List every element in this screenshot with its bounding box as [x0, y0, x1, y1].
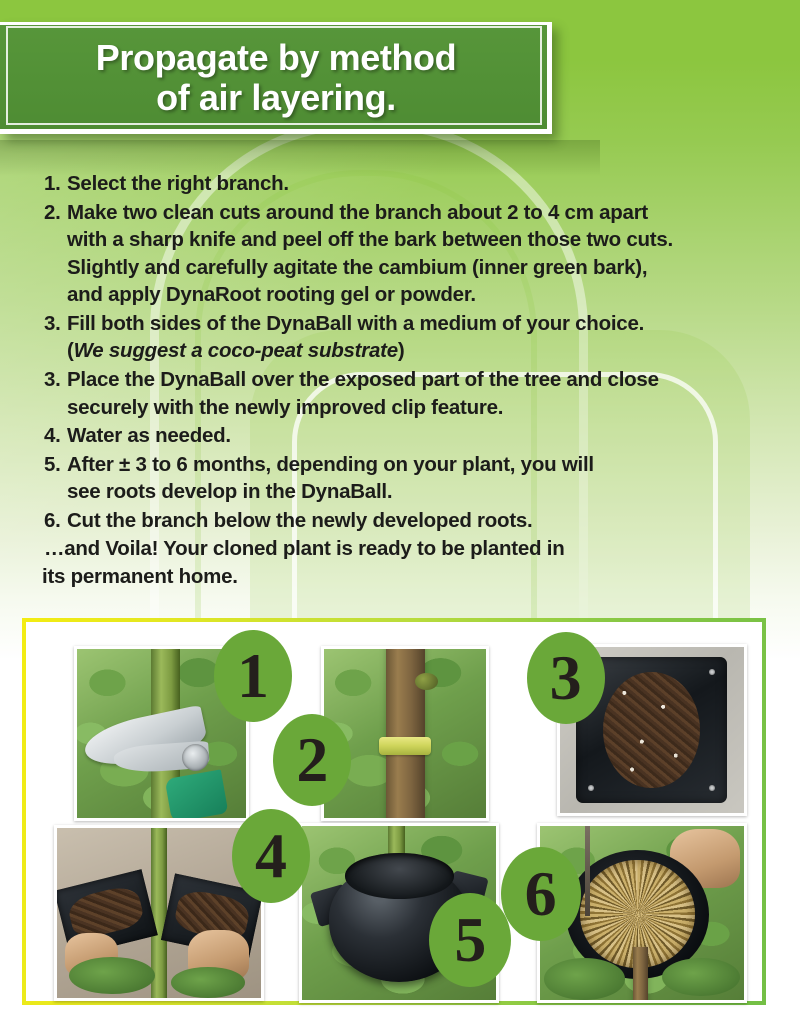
note-close-paren: ) — [398, 339, 405, 362]
step-line: Water as needed. — [67, 424, 231, 447]
step-badge-4: 4 — [232, 809, 310, 903]
step-text: Make two clean cuts around the branch ab… — [67, 199, 774, 309]
step-badge-3: 3 — [527, 632, 605, 724]
step-badge-2: 2 — [273, 714, 351, 806]
list-item: 3. Fill both sides of the DynaBall with … — [44, 310, 774, 365]
branch-nub — [415, 673, 438, 690]
shell-screw — [709, 785, 715, 791]
branch — [633, 947, 647, 1002]
step-line: Select the right branch. — [67, 172, 289, 195]
closing-line-2: its permanent home. — [42, 563, 774, 591]
photo-gallery-panel: 1 2 — [22, 618, 766, 1005]
step-line: Make two clean cuts around the branch ab… — [67, 199, 774, 227]
photo-cell-3: 3 — [521, 636, 746, 809]
shear-handle-icon — [165, 769, 229, 821]
header-banner: Propagate by method of air layering. — [0, 22, 552, 134]
page-title-line-1: Propagate by method — [96, 38, 456, 78]
step-text: Place the DynaBall over the exposed part… — [67, 366, 774, 421]
dynaball-collar — [345, 853, 454, 898]
photo-branch-with-peeled-bark-ring — [321, 646, 489, 821]
photo-scene — [324, 649, 486, 818]
medium-fill — [66, 883, 146, 941]
page-title-line-2: of air layering. — [156, 78, 396, 118]
page-title: Propagate by method of air layering. — [0, 22, 552, 134]
photo-cell-2: 2 — [281, 636, 506, 809]
shell-screw — [588, 785, 594, 791]
photo-cell-6: 6 — [521, 817, 746, 990]
step-number: 3. — [44, 366, 67, 394]
photo-scene — [57, 828, 261, 998]
step-line: Fill both sides of the DynaBall with a m… — [67, 310, 774, 338]
step-badge-1: 1 — [214, 630, 292, 722]
step-number: 4. — [44, 422, 67, 450]
step-line: with a sharp knife and peel off the bark… — [67, 226, 774, 254]
list-item: 2. Make two clean cuts around the branch… — [44, 199, 774, 309]
photo-cell-1: 1 — [42, 636, 267, 809]
step-line: Slightly and carefully agitate the cambi… — [67, 254, 774, 282]
note-italic-text: We suggest a coco-peat substrate — [74, 339, 398, 362]
foliage-foreground — [662, 958, 740, 996]
instruction-list: 1. Select the right branch. 2. Make two … — [44, 170, 774, 590]
note-open-paren: ( — [67, 339, 74, 362]
closing-line-1: …and Voila! Your cloned plant is ready t… — [44, 537, 564, 560]
step-text: Select the right branch. — [67, 170, 774, 198]
peeled-bark-ring — [379, 737, 431, 756]
list-item: 1. Select the right branch. — [44, 170, 774, 198]
list-item: 5. After ± 3 to 6 months, depending on y… — [44, 451, 774, 506]
step-badge-6: 6 — [501, 847, 581, 941]
photo-cell-4: 4 — [42, 817, 267, 990]
step-number: 6. — [44, 507, 67, 535]
step-number: 2. — [44, 199, 67, 227]
step-line: Place the DynaBall over the exposed part… — [67, 366, 774, 394]
closing-text: …and Voila! Your cloned plant is ready t… — [44, 535, 774, 590]
step-line: see roots develop in the DynaBall. — [67, 478, 774, 506]
step-text: Cut the branch below the newly developed… — [67, 507, 774, 535]
shear-pivot-icon — [182, 744, 209, 771]
step-line: Cut the branch below the newly developed… — [67, 509, 533, 532]
photo-gallery-inner: 1 2 — [26, 622, 762, 1001]
step-text: After ± 3 to 6 months, depending on your… — [67, 451, 774, 506]
step-number: 1. — [44, 170, 67, 198]
list-item: 3. Place the DynaBall over the exposed p… — [44, 366, 774, 421]
foliage-foreground — [544, 958, 626, 1000]
foliage-foreground — [69, 957, 155, 994]
shell-screw — [709, 669, 715, 675]
step-note: (We suggest a coco-peat substrate) — [67, 337, 774, 365]
photo-grid: 1 2 — [26, 622, 762, 1001]
foliage-foreground — [171, 967, 244, 998]
coco-peat-medium — [603, 672, 700, 789]
photo-cell-5: 5 — [281, 817, 506, 990]
step-number: 3. — [44, 310, 67, 338]
branch — [386, 646, 425, 821]
step-line: securely with the newly improved clip fe… — [67, 394, 774, 422]
step-number: 5. — [44, 451, 67, 479]
step-badge-5: 5 — [429, 893, 511, 987]
list-item: 4. Water as needed. — [44, 422, 774, 450]
support-stake — [585, 826, 590, 916]
step-line: After ± 3 to 6 months, depending on your… — [67, 451, 774, 479]
step-text: Water as needed. — [67, 422, 774, 450]
list-item: 6. Cut the branch below the newly develo… — [44, 507, 774, 535]
step-text: Fill both sides of the DynaBall with a m… — [67, 310, 774, 365]
air-layering-infographic: Propagate by method of air layering. 1. … — [0, 0, 800, 1025]
step-line: and apply DynaRoot rooting gel or powder… — [67, 281, 774, 309]
